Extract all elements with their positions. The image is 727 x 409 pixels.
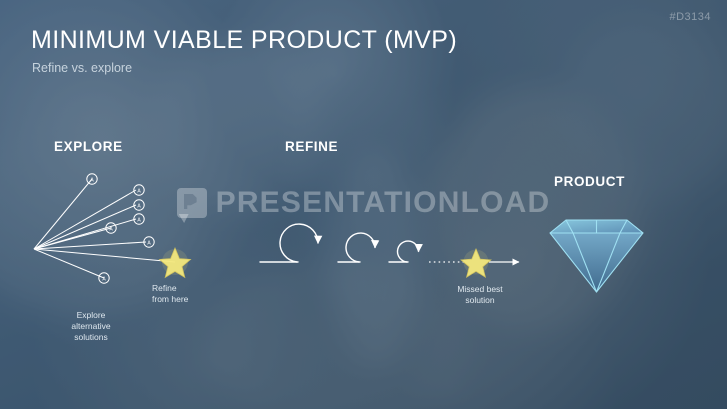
refine-loop-1 [280, 224, 318, 262]
caption-explore: Explore alternative solutions [46, 310, 136, 343]
slide-canvas: PRESENTATIONLOAD #D3134 MINIMUM VIABLE P… [0, 0, 727, 409]
caption-missed-line2: solution [434, 295, 526, 306]
missed-best-solution-star [461, 249, 491, 277]
caption-explore-line3: solutions [46, 332, 136, 343]
explore-node-label: A [102, 277, 106, 283]
explore-node-label: A [90, 178, 94, 184]
explore-fan-diagram [34, 179, 175, 278]
caption-explore-line1: Explore [46, 310, 136, 321]
caption-refine-from-here: Refine from here [152, 283, 224, 305]
caption-refine-line2: from here [152, 294, 224, 305]
caption-refine-line1: Refine [152, 283, 224, 294]
explore-node-group: A A A A A A A [87, 174, 154, 283]
explore-node-label: A [137, 189, 141, 195]
refine-loop-2 [346, 233, 375, 262]
product-diamond [550, 220, 643, 292]
explore-node-label: A [109, 227, 113, 233]
caption-missed-solution: Missed best solution [434, 284, 526, 306]
refine-from-here-star [160, 248, 191, 277]
explore-node-label: A [147, 241, 151, 247]
explore-node-label: A [137, 218, 141, 224]
caption-explore-line2: alternative [46, 321, 136, 332]
explore-node-label: A [137, 204, 141, 210]
diagram-layer: A A A A A A A [0, 0, 727, 409]
caption-missed-line1: Missed best [434, 284, 526, 295]
refine-loop-3 [398, 241, 419, 262]
